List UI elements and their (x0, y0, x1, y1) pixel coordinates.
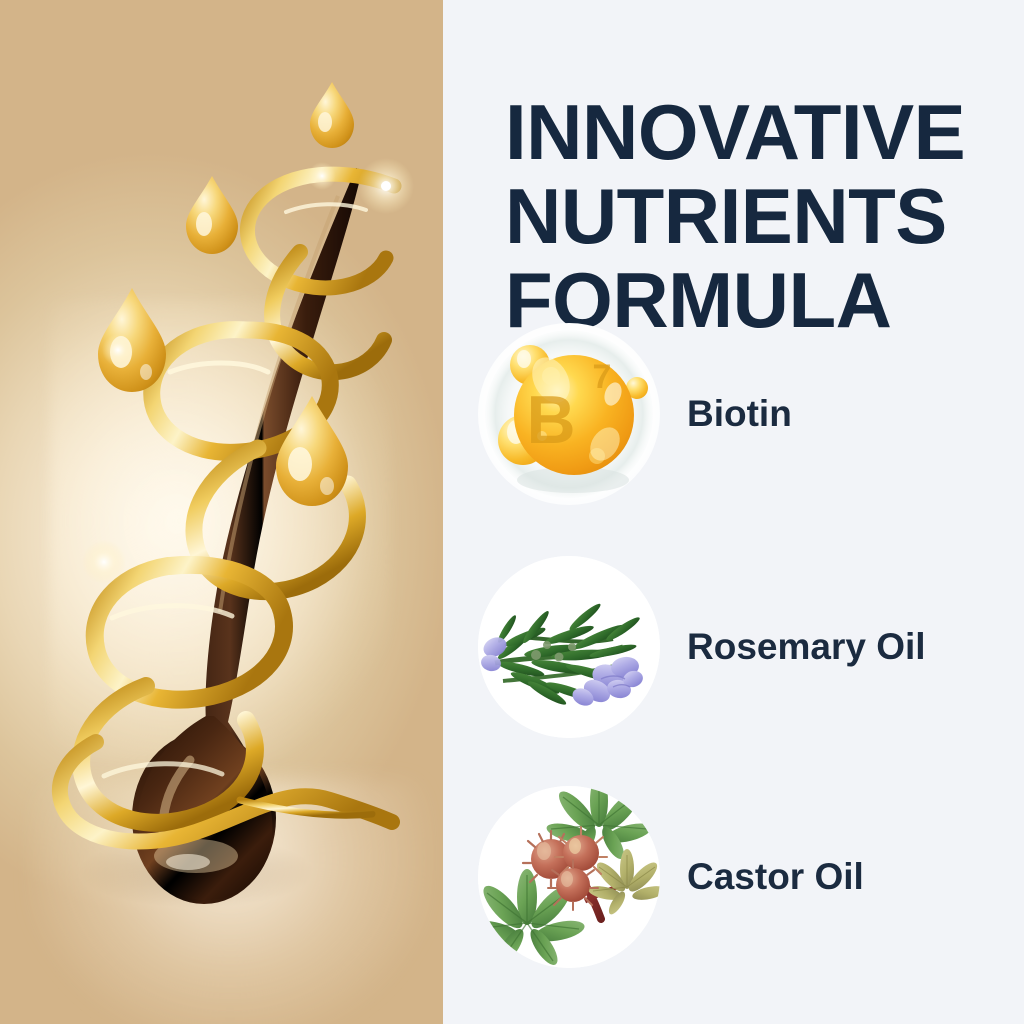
rosemary-sprig-icon (473, 551, 665, 743)
ingredient-label-castor-oil: Castor Oil (687, 856, 864, 898)
castor-thumbnail (473, 781, 665, 973)
ingredient-item-rosemary-oil: Rosemary Oil (473, 551, 1018, 743)
droplet-upper-mid (186, 176, 238, 254)
page-title: INNOVATIVE NUTRIENTS FORMULA (505, 90, 1005, 342)
vitamin-letter: B (526, 382, 575, 458)
biotin-thumbnail: B 7 (473, 318, 665, 510)
ingredient-item-castor-oil: Castor Oil (473, 781, 1018, 973)
ingredient-label-biotin: Biotin (687, 393, 792, 435)
title-line-2: NUTRIENTS (505, 174, 1005, 258)
vitamin-b7-sphere-icon: B 7 (473, 318, 665, 510)
rosemary-thumbnail (473, 551, 665, 743)
droplet-top-small (310, 82, 354, 148)
vitamin-number: 7 (593, 358, 612, 396)
ingredient-label-rosemary-oil: Rosemary Oil (687, 626, 926, 668)
castor-plant-icon (473, 781, 665, 973)
hero-image-panel (0, 0, 443, 1024)
hair-oil-illustration (0, 0, 443, 1024)
title-line-1: INNOVATIVE (505, 90, 1005, 174)
content-panel: INNOVATIVE NUTRIENTS FORMULA (443, 0, 1024, 1024)
product-infographic: INNOVATIVE NUTRIENTS FORMULA (0, 0, 1024, 1024)
ingredient-item-biotin: B 7 Biotin (473, 318, 1018, 510)
